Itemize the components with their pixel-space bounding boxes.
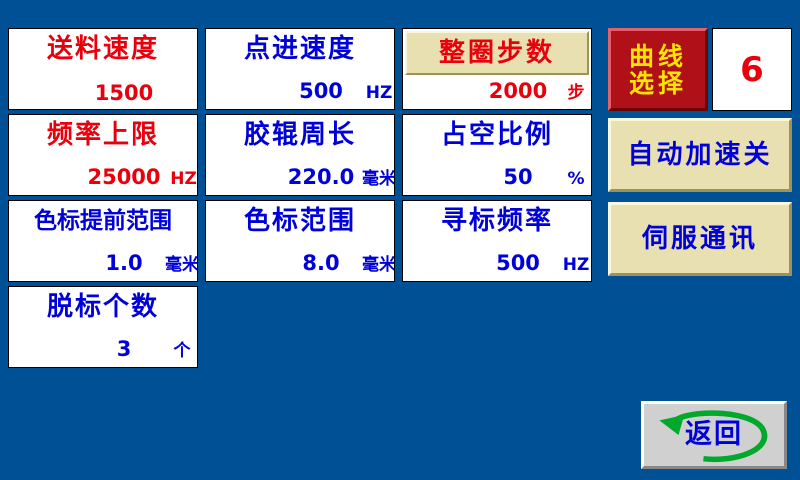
param-number-feed-speed: 1500 (89, 81, 159, 105)
param-unit-missed-mark-count: 个 (159, 339, 198, 363)
param-cell-missed-mark-count[interactable]: 脱标个数 3个 (8, 286, 198, 368)
servo-comm-button[interactable]: 伺服通讯 (608, 202, 792, 276)
param-value-full-turn-steps: 2000步 (403, 79, 592, 105)
param-unit-full-turn-steps: 步 (553, 81, 592, 105)
param-cell-mark-advance-range[interactable]: 色标提前范围 1.0毫米 (8, 200, 198, 282)
curve-select-line1: 曲线 (629, 42, 687, 71)
curve-select-label: 曲线选择 (629, 43, 687, 97)
return-button-label: 返回 (644, 404, 784, 466)
param-label-jog-speed: 点进速度 (206, 33, 394, 65)
param-number-mark-advance-range: 1.0 (89, 251, 159, 275)
param-cell-full-turn-steps[interactable]: 整圈步数 2000步 (402, 28, 592, 110)
param-number-rubber-roller-circumference: 220.0 (286, 165, 356, 189)
param-cell-duty-ratio[interactable]: 占空比例 50% (402, 114, 592, 196)
param-label-full-turn-steps: 整圈步数 (407, 33, 587, 73)
return-button[interactable]: 返回 (641, 401, 787, 469)
param-label-mark-range: 色标范围 (206, 205, 394, 237)
param-number-jog-speed: 500 (286, 79, 356, 103)
param-value-frequency-upper-limit: 25000HZ (9, 165, 198, 191)
param-value-jog-speed: 500HZ (206, 79, 395, 105)
param-unit-rubber-roller-circumference: 毫米 (356, 167, 395, 191)
param-cell-feed-speed[interactable]: 送料速度 1500 (8, 28, 198, 110)
hmi-screen: 送料速度 1500 点进速度 500HZ 整圈步数 2000步 曲线选择 6 频… (0, 0, 800, 480)
param-number-full-turn-steps: 2000 (483, 79, 553, 103)
param-value-missed-mark-count: 3个 (9, 337, 198, 363)
param-cell-jog-speed[interactable]: 点进速度 500HZ (205, 28, 395, 110)
param-unit-duty-ratio: % (553, 167, 592, 191)
param-number-mark-search-frequency: 500 (483, 251, 553, 275)
param-value-mark-advance-range: 1.0毫米 (9, 251, 198, 277)
param-unit-frequency-upper-limit: HZ (161, 167, 198, 191)
param-label-feed-speed: 送料速度 (9, 33, 197, 65)
param-value-mark-search-frequency: 500HZ (403, 251, 592, 277)
param-cell-frequency-upper-limit[interactable]: 频率上限 25000HZ (8, 114, 198, 196)
param-unit-mark-search-frequency: HZ (553, 253, 592, 277)
param-cell-rubber-roller-circumference[interactable]: 胶辊周长 220.0毫米 (205, 114, 395, 196)
param-number-missed-mark-count: 3 (89, 337, 159, 361)
servo-comm-label: 伺服通讯 (642, 224, 758, 254)
param-value-feed-speed: 1500 (9, 81, 198, 105)
param-value-rubber-roller-circumference: 220.0毫米 (206, 165, 395, 191)
param-label-rubber-roller-circumference: 胶辊周长 (206, 119, 394, 151)
param-value-mark-range: 8.0毫米 (206, 251, 395, 277)
param-unit-mark-advance-range: 毫米 (159, 253, 198, 277)
param-number-mark-range: 8.0 (286, 251, 356, 275)
param-header-plate-full-turn-steps[interactable]: 整圈步数 (405, 31, 589, 75)
param-label-mark-search-frequency: 寻标频率 (403, 205, 591, 237)
curve-number-value: 6 (740, 52, 764, 88)
param-number-frequency-upper-limit: 25000 (87, 165, 160, 189)
auto-accel-button[interactable]: 自动加速关 (608, 118, 792, 192)
param-cell-mark-search-frequency[interactable]: 寻标频率 500HZ (402, 200, 592, 282)
param-label-mark-advance-range: 色标提前范围 (9, 205, 197, 237)
curve-number-display: 6 (712, 28, 792, 111)
param-unit-jog-speed: HZ (356, 81, 395, 105)
param-label-duty-ratio: 占空比例 (403, 119, 591, 151)
param-number-duty-ratio: 50 (483, 165, 553, 189)
param-value-duty-ratio: 50% (403, 165, 592, 191)
param-label-frequency-upper-limit: 频率上限 (9, 119, 197, 151)
auto-accel-label: 自动加速关 (627, 140, 772, 170)
curve-select-line2: 选择 (629, 69, 687, 98)
param-label-missed-mark-count: 脱标个数 (9, 291, 197, 323)
param-unit-mark-range: 毫米 (356, 253, 395, 277)
curve-select-button[interactable]: 曲线选择 (608, 28, 708, 111)
param-cell-mark-range[interactable]: 色标范围 8.0毫米 (205, 200, 395, 282)
